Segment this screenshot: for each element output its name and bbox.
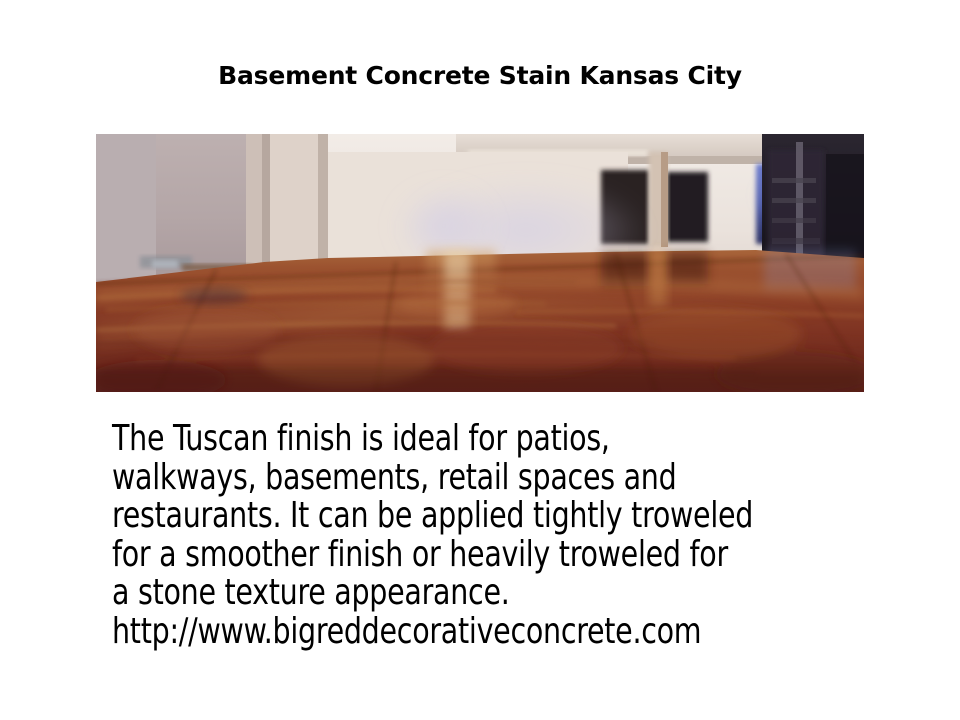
basement-floor-photo: [96, 134, 864, 392]
body-line-2: walkways, basements, retail spaces and: [112, 459, 807, 498]
body-line-4: for a smoother finish or heavily trowele…: [112, 536, 807, 575]
presentation-slide: Basement Concrete Stain Kansas City: [0, 0, 960, 720]
basement-floor-photo-graphic: [96, 134, 864, 392]
body-line-1: The Tuscan finish is ideal for patios,: [112, 420, 807, 459]
body-line-3: restaurants. It can be applied tightly t…: [112, 497, 807, 536]
body-line-5: a stone texture appearance.: [112, 574, 807, 613]
body-paragraph: The Tuscan finish is ideal for patios, w…: [112, 420, 902, 651]
slide-title: Basement Concrete Stain Kansas City: [0, 60, 960, 92]
website-url[interactable]: http://www.bigreddecorativeconcrete.com: [112, 613, 807, 652]
